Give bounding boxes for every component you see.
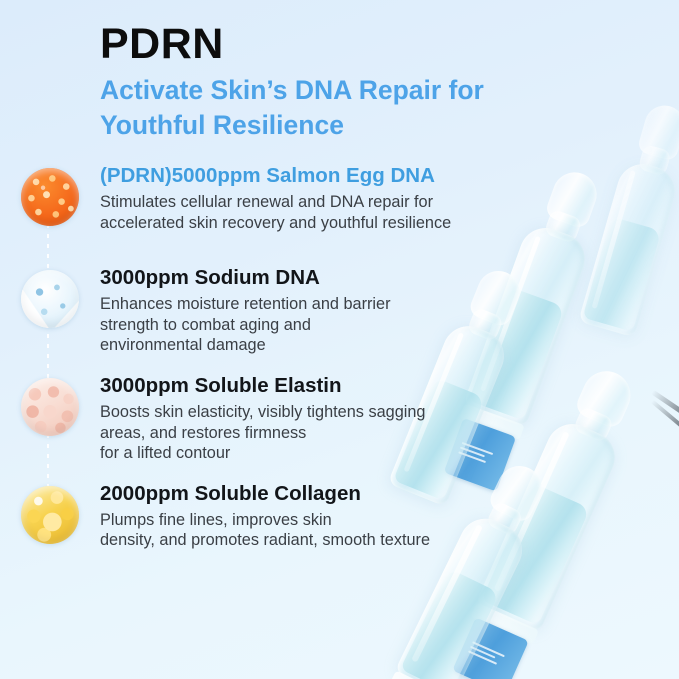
icon-wrap — [0, 164, 100, 226]
pdrn-ingredient-infographic: PDRN Activate Skin’s DNA Repair for Yout… — [0, 0, 679, 679]
collagen-droplet-icon — [21, 486, 79, 544]
sodium-crystal-icon — [21, 270, 79, 328]
page-subtitle: Activate Skin’s DNA Repair for Youthful … — [100, 73, 560, 142]
elastin-tissue-icon — [21, 378, 79, 436]
ampoule-liquid — [400, 568, 500, 679]
ampoule-label — [452, 617, 529, 679]
ampoule-collar — [471, 603, 539, 645]
text-wrap: 2000ppm Soluble Collagen Plumps fine lin… — [100, 482, 679, 551]
header: PDRN Activate Skin’s DNA Repair for Yout… — [0, 0, 679, 142]
icon-wrap — [0, 374, 100, 436]
page-title: PDRN — [100, 22, 679, 67]
ingredient-title: 2000ppm Soluble Collagen — [100, 482, 665, 506]
label-text-line — [468, 650, 497, 665]
ingredient-title: 3000ppm Sodium DNA — [100, 266, 665, 290]
label-text-line — [472, 641, 506, 657]
text-wrap: (PDRN)5000ppm Salmon Egg DNA Stimulates … — [100, 164, 679, 233]
content-area: PDRN Activate Skin’s DNA Repair for Yout… — [0, 0, 679, 566]
ampoule-collar — [389, 671, 451, 679]
ingredient-item-soluble-elastin: 3000ppm Soluble Elastin Boosts skin elas… — [0, 374, 679, 464]
icon-wrap — [0, 482, 100, 544]
ingredient-item-sodium-dna: 3000ppm Sodium DNA Enhances moisture ret… — [0, 266, 679, 356]
ingredient-description: Boosts skin elasticity, visibly tightens… — [100, 402, 665, 464]
ingredient-description: Stimulates cellular renewal and DNA repa… — [100, 192, 665, 233]
ingredient-list: (PDRN)5000ppm Salmon Egg DNA Stimulates … — [0, 164, 679, 566]
ingredient-item-soluble-collagen: 2000ppm Soluble Collagen Plumps fine lin… — [0, 482, 679, 566]
salmon-roe-icon — [21, 168, 79, 226]
ingredient-item-salmon-egg-dna: (PDRN)5000ppm Salmon Egg DNA Stimulates … — [0, 164, 679, 248]
text-wrap: 3000ppm Sodium DNA Enhances moisture ret… — [100, 266, 679, 356]
ingredient-title: 3000ppm Soluble Elastin — [100, 374, 665, 398]
ingredient-description: Enhances moisture retention and barrier … — [100, 294, 665, 356]
label-text-line — [470, 646, 496, 659]
ingredient-description: Plumps fine lines, improves skin density… — [100, 510, 665, 551]
ingredient-title: (PDRN)5000ppm Salmon Egg DNA — [100, 164, 665, 188]
icon-wrap — [0, 266, 100, 328]
text-wrap: 3000ppm Soluble Elastin Boosts skin elas… — [100, 374, 679, 464]
